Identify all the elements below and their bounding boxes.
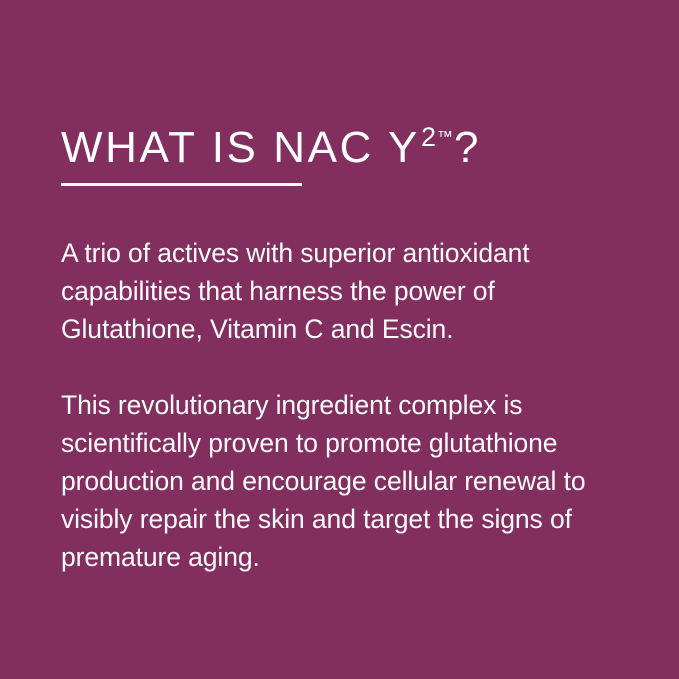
body-copy: A trio of actives with superior antioxid… [61,234,639,576]
content-container: WHAT IS NAC Y2™? A trio of actives with … [61,112,641,173]
page-title-lead: WHAT IS NAC Y [61,123,420,172]
page-title-question-mark: ? [454,123,478,172]
title-divider [61,183,302,186]
trademark-icon: ™ [437,129,453,146]
page-title: WHAT IS NAC Y2™? [61,112,641,173]
promo-panel: WHAT IS NAC Y2™? A trio of actives with … [0,0,679,679]
paragraph-second: This revolutionary ingredient complex is… [61,386,639,576]
superscript-two: 2 [421,122,436,152]
paragraph-first: A trio of actives with superior antioxid… [61,234,639,348]
